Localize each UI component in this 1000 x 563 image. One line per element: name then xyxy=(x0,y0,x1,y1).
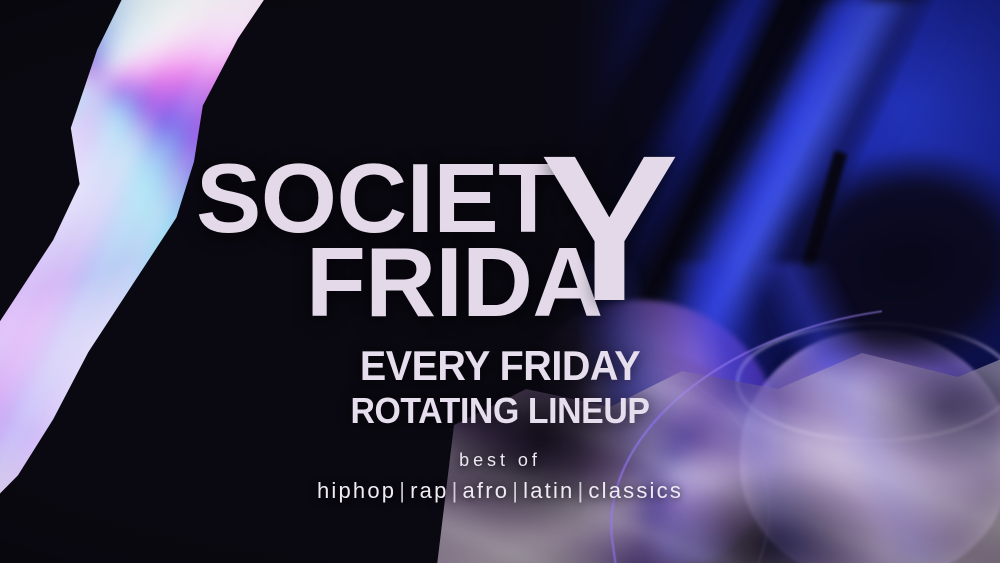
brand-shared-letter-y: Y xyxy=(540,148,670,310)
poster-content: SOCIET FRIDA Y EVERY FRIDAY ROTATING LIN… xyxy=(0,0,1000,563)
poster-canvas: SOCIET FRIDA Y EVERY FRIDAY ROTATING LIN… xyxy=(0,0,1000,563)
genre-separator: | xyxy=(449,478,463,503)
genre-separator: | xyxy=(509,478,523,503)
genre-item-classics: classics xyxy=(588,478,683,503)
genre-item-rap: rap xyxy=(410,478,448,503)
genre-item-afro: afro xyxy=(462,478,509,503)
genre-separator: | xyxy=(396,478,410,503)
genre-list: hiphop|rap|afro|latin|classics xyxy=(0,478,1000,504)
best-of-label: best of xyxy=(0,450,1000,471)
subtitle-rotating-lineup: ROTATING LINEUP xyxy=(30,390,970,432)
genre-item-latin: latin xyxy=(523,478,574,503)
genre-separator: | xyxy=(574,478,588,503)
genre-item-hiphop: hiphop xyxy=(317,478,396,503)
subtitle-every-friday: EVERY FRIDAY xyxy=(30,342,970,390)
